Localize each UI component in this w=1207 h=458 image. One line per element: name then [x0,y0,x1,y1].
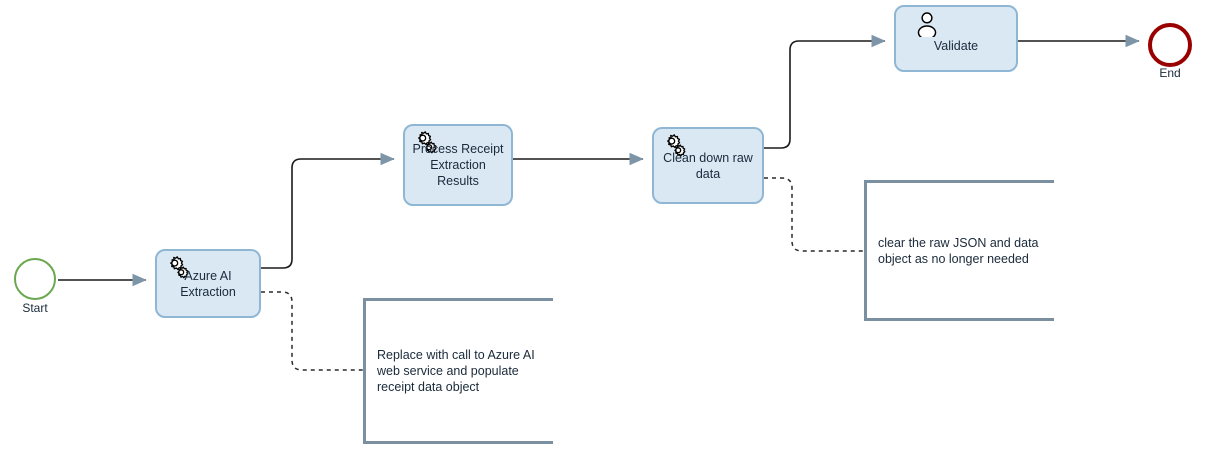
user-icon [914,11,940,37]
sequence-flow-azure-to-process [261,159,394,268]
task-label: Azure AI Extraction [157,268,259,300]
association-azure-to-annotation [261,292,363,370]
task-validate[interactable]: Validate [894,5,1018,72]
end-event[interactable]: End [1148,23,1192,67]
task-label: Process Receipt Extraction Results [405,141,511,189]
text-annotation-azure-ai: Replace with call to Azure AI web servic… [363,298,553,444]
task-label: Validate [896,38,1016,54]
task-label: Clean down raw data [654,150,762,182]
start-event-label: Start [22,301,47,315]
task-azure-ai-extraction[interactable]: Azure AI Extraction [155,249,261,318]
association-clean-to-annotation [764,178,864,251]
annotation-text: clear the raw JSON and data object as no… [878,235,1068,267]
text-annotation-clean-down: clear the raw JSON and data object as no… [864,180,1054,321]
annotation-text: Replace with call to Azure AI web servic… [377,347,567,395]
start-event[interactable]: Start [14,258,56,300]
task-process-receipt-extraction-results[interactable]: Process Receipt Extraction Results [403,124,513,206]
sequence-flow-clean-to-validate [764,41,885,148]
bpmn-diagram-canvas: Start Azure AI Extraction [0,0,1207,458]
end-event-label: End [1159,66,1180,80]
task-clean-down-raw-data[interactable]: Clean down raw data [652,127,764,204]
